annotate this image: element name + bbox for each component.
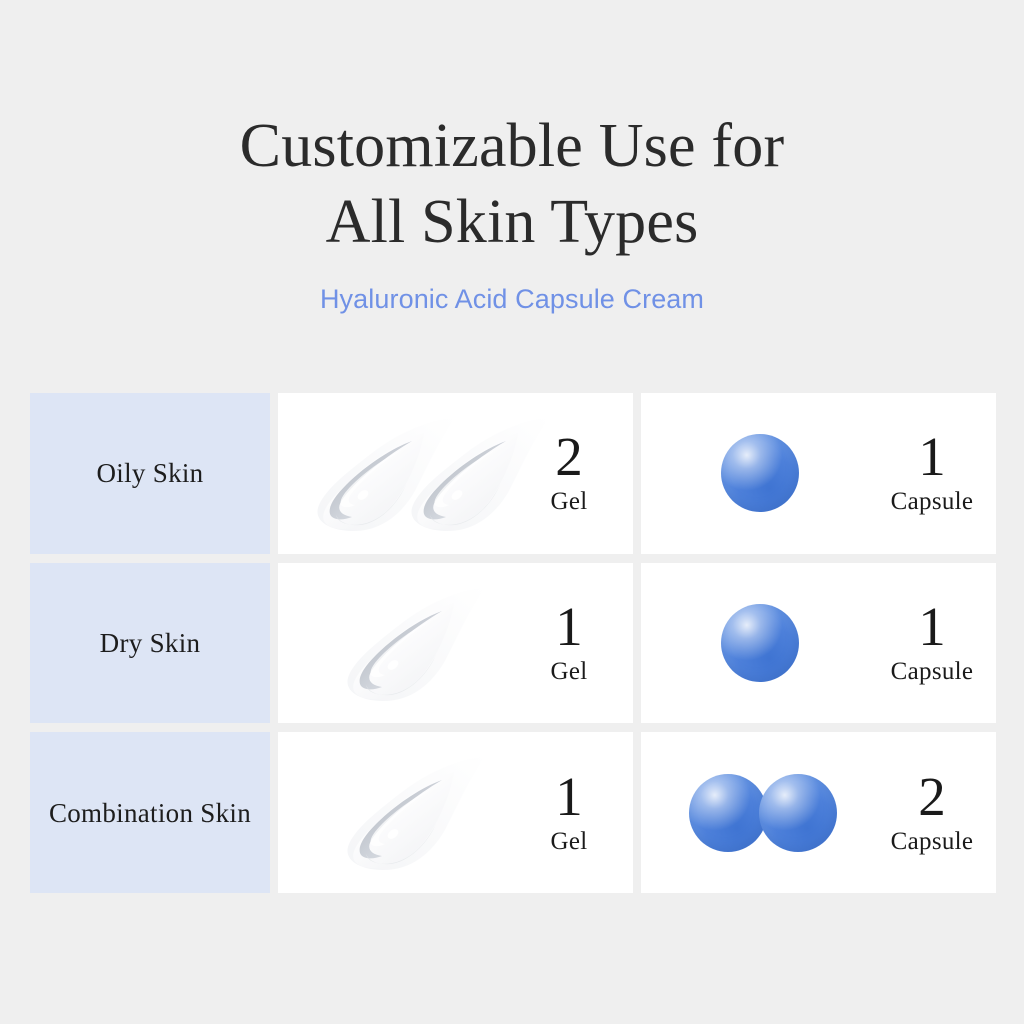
capsule-count: 2 xyxy=(868,768,996,826)
capsule-sphere-icon xyxy=(721,434,799,512)
page-subtitle: Hyaluronic Acid Capsule Cream xyxy=(0,282,1024,316)
capsule-unit-label: Capsule xyxy=(868,486,996,518)
gel-swatch-group xyxy=(278,393,505,554)
capsule-group xyxy=(641,563,868,724)
capsule-cell: 2 Capsule xyxy=(641,732,996,893)
capsule-cell: 1 Capsule xyxy=(641,393,996,554)
gel-unit-label: Gel xyxy=(505,826,633,858)
capsule-group xyxy=(641,732,868,893)
gel-cell: 1 Gel xyxy=(278,563,633,724)
table-row: Oily Skin xyxy=(30,393,270,554)
usage-table: Oily Skin xyxy=(30,393,995,893)
capsule-sphere-icon xyxy=(689,774,767,852)
capsule-unit-label: Capsule xyxy=(868,656,996,688)
capsule-sphere-icon xyxy=(721,604,799,682)
page-title: Customizable Use for All Skin Types xyxy=(0,108,1024,260)
gel-amount: 1 Gel xyxy=(505,768,633,858)
capsule-count: 1 xyxy=(868,598,996,656)
gel-unit-label: Gel xyxy=(505,656,633,688)
gel-swatch-icon xyxy=(336,585,486,703)
skin-type-label: Dry Skin xyxy=(100,623,201,663)
gel-cell: 2 Gel xyxy=(278,393,633,554)
capsule-amount: 1 Capsule xyxy=(868,428,996,518)
gel-count: 1 xyxy=(505,598,633,656)
gel-swatch-group xyxy=(278,732,505,893)
capsule-cell: 1 Capsule xyxy=(641,563,996,724)
gel-swatch-icon xyxy=(336,754,486,872)
skin-type-label: Oily Skin xyxy=(97,453,204,493)
gel-swatch-group xyxy=(278,563,505,724)
page-title-line-1: Customizable Use for xyxy=(0,108,1024,184)
table-row: Dry Skin xyxy=(30,563,270,724)
table-row: Combination Skin xyxy=(30,732,270,893)
page-title-line-2: All Skin Types xyxy=(0,184,1024,260)
gel-cell: 1 Gel xyxy=(278,732,633,893)
capsule-unit-label: Capsule xyxy=(868,826,996,858)
capsule-amount: 1 Capsule xyxy=(868,598,996,688)
gel-amount: 1 Gel xyxy=(505,598,633,688)
capsule-sphere-icon xyxy=(759,774,837,852)
gel-count: 1 xyxy=(505,768,633,826)
gel-swatch-icon xyxy=(400,415,550,533)
capsule-group xyxy=(641,393,868,554)
header-block: Customizable Use for All Skin Types Hyal… xyxy=(0,108,1024,316)
capsule-count: 1 xyxy=(868,428,996,486)
capsule-amount: 2 Capsule xyxy=(868,768,996,858)
product-infographic-page: Customizable Use for All Skin Types Hyal… xyxy=(0,0,1024,1024)
skin-type-label: Combination Skin xyxy=(49,793,251,833)
